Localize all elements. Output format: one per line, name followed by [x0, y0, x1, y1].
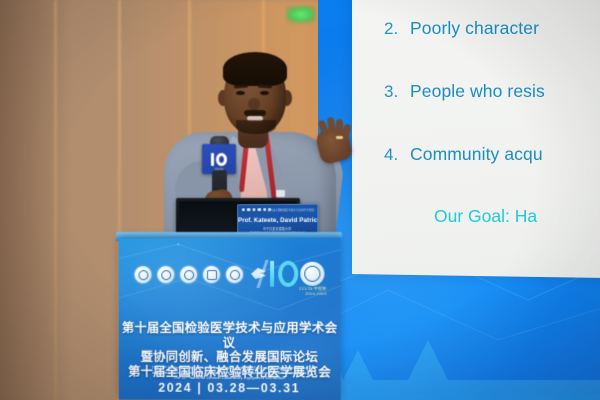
- association-logo-2-icon: [157, 266, 174, 283]
- podium-banner: CCLTA 中检协 2014-2024 第十届全国检验医学技术与应用学术会议 暨…: [119, 237, 341, 400]
- association-logo-3-icon: [180, 266, 197, 283]
- mic-flag-digit-zero: [216, 153, 227, 166]
- podium-logo-row: [135, 266, 269, 283]
- slide-item-text: Community acqu: [410, 144, 543, 165]
- presentation-slide: to reduc 2. Poorly character 3. People w…: [352, 0, 600, 278]
- wall-shadow: [0, 0, 72, 400]
- anniversary-badge-icon: [300, 262, 324, 286]
- slide-item-number: 2.: [384, 19, 410, 39]
- nameplate-org-tag: 第十届全国检验医学技术与应用学术会议: [267, 208, 314, 212]
- anniversary-digit-one: [270, 261, 274, 287]
- nameplate-speaker-name: Prof. Kateete, David Patrick: [238, 217, 317, 224]
- speaker-nose: [248, 98, 260, 110]
- podium-title-cn-line-2: 暨协同创新、融合发展国际论坛: [119, 350, 341, 365]
- speaker-hair: [223, 52, 287, 86]
- slide-list-item-4: 4. Community acqu: [384, 144, 543, 165]
- anniversary-10-logo: CCLTA 中检协 2014-2024: [266, 260, 324, 292]
- speaker-eye-left: [236, 91, 245, 95]
- finger-ring: [336, 136, 343, 139]
- anniversary-digit-zero: [278, 261, 298, 287]
- anniversary-caption-line-2: 2014-2024: [305, 291, 326, 296]
- slide-item-text: People who resis: [410, 81, 545, 102]
- anniversary-caption: CCLTA 中检协 2014-2024: [299, 286, 326, 296]
- nameplate-logo-dot: [263, 208, 266, 211]
- nameplate-logo-dot: [247, 208, 250, 211]
- podium-title-cn-line-1: 第十届全国检验医学技术与应用学术会议: [119, 321, 341, 350]
- hand-finger: [327, 117, 337, 134]
- nameplate-logo-dot: [242, 208, 245, 211]
- slide-goal-text: Our Goal: Ha: [434, 206, 537, 227]
- speaker-beard: [236, 120, 276, 134]
- podium-title-english: The 10ᵗʰ National Conference on Laborato…: [119, 366, 341, 382]
- nameplate-logo-dot: [252, 208, 255, 211]
- mic-flag-digit-one: [211, 153, 214, 166]
- exit-sign: [286, 6, 316, 23]
- slide-list-item-2: 2. Poorly character: [384, 18, 539, 39]
- association-logo-5-icon: [226, 266, 243, 283]
- speaker-eye-right: [260, 91, 269, 95]
- association-logo-4-icon: [203, 266, 220, 283]
- badge-pin: [276, 190, 285, 197]
- nameplate-logo-dot: [258, 208, 261, 211]
- slide-item-text: Poorly character: [410, 18, 539, 39]
- screenshot-root: to reduc 2. Poorly character 3. People w…: [0, 0, 600, 400]
- podium-event-date: 2024 | 03.28—03.31: [119, 381, 341, 396]
- slide-item-number: 4.: [384, 145, 410, 165]
- hand-finger: [342, 124, 352, 141]
- slide-list-item-3: 3. People who resis: [384, 81, 545, 102]
- slide-item-number: 3.: [384, 82, 410, 102]
- association-logo-1-icon: [135, 266, 152, 283]
